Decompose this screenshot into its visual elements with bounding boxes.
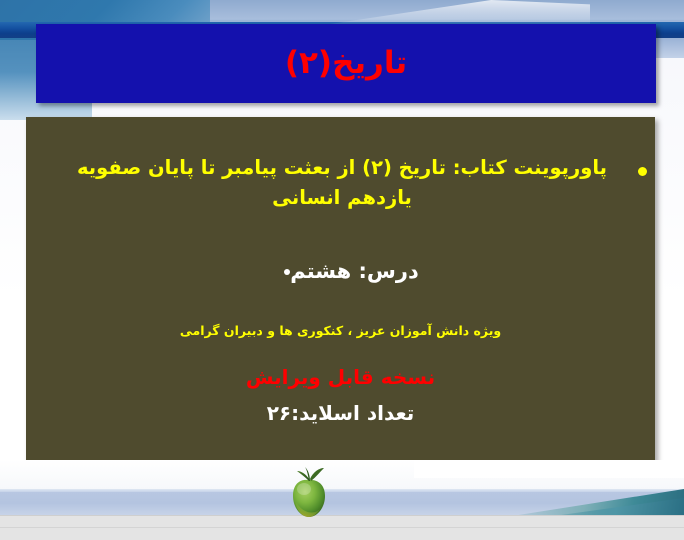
slide-title: تاریخ(۲)	[285, 48, 407, 79]
bullet-item-1-label: پاورپوینت کتاب: تاریخ (۲) از بعثت پیامبر…	[26, 153, 632, 213]
yellow-bullet-dot-icon	[638, 167, 647, 176]
audience-note: ویژه دانش آموزان عزیز ، کنکوری ها و دبیر…	[26, 323, 655, 338]
bottom-gray-divider	[0, 527, 684, 528]
editable-version-note: نسخه قابل ویرایش	[26, 365, 655, 389]
slide-content-box: پاورپوینت کتاب: تاریخ (۲) از بعثت پیامبر…	[26, 117, 655, 467]
slide-count-note: تعداد اسلاید:۲۶	[26, 401, 655, 425]
bullet-item-2-label: درس: هشتم	[290, 259, 419, 284]
presentation-slide: تاریخ(۲) پاورپوینت کتاب: تاریخ (۲) از بع…	[0, 0, 684, 540]
bottom-band-highlight	[0, 489, 684, 492]
green-apple-icon	[286, 466, 332, 518]
bottom-white-notch	[414, 460, 684, 478]
bullet-item-1: پاورپوینت کتاب: تاریخ (۲) از بعثت پیامبر…	[26, 153, 655, 213]
white-bullet-dot-icon	[284, 269, 290, 275]
bullet-item-2: درس: هشتم	[26, 259, 655, 284]
slide-title-box: تاریخ(۲)	[36, 24, 656, 103]
